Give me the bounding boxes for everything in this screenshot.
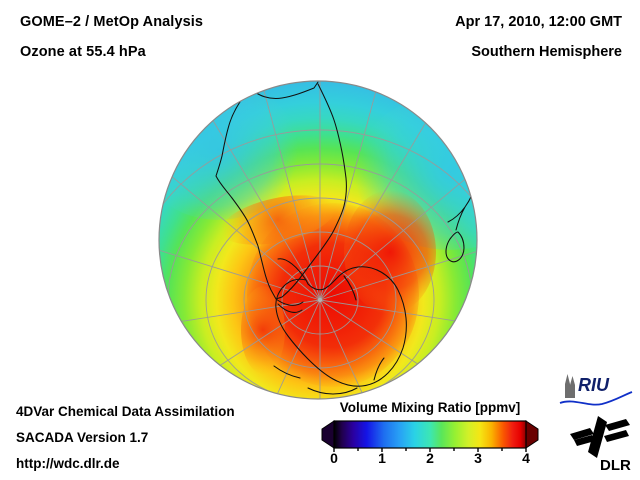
colorbar-extend-max — [526, 421, 538, 448]
colorbar-tick-2: 2 — [426, 450, 434, 466]
orthographic-projection — [158, 80, 478, 400]
footer-line-method: 4DVar Chemical Data Assimilation — [16, 404, 235, 419]
orange-filament-south-pacific — [241, 286, 285, 374]
dlr-logo-text: DLR — [600, 457, 631, 474]
colorbar-bar — [334, 421, 526, 448]
colorbar: Volume Mixing Ratio [ppmv] — [312, 400, 548, 474]
colorbar-tick-4: 4 — [522, 450, 530, 466]
region-label: Southern Hemisphere — [471, 44, 622, 60]
colorbar-title: Volume Mixing Ratio [ppmv] — [312, 400, 548, 415]
ozone-analysis-figure: GOME–2 / MetOp Analysis Ozone at 55.4 hP… — [0, 0, 640, 480]
colorbar-gradient — [312, 418, 548, 452]
colorbar-tick-1: 1 — [378, 450, 386, 466]
date-label: Apr 17, 2010, 12:00 GMT — [455, 14, 622, 30]
colorbar-tick-3: 3 — [474, 450, 482, 466]
ozone-field-layer — [158, 80, 478, 400]
cathedral-icon — [565, 374, 575, 398]
riu-logo: RIU — [556, 372, 636, 410]
footer-line-url[interactable]: http://wdc.dlr.de — [16, 456, 120, 471]
page-title: GOME–2 / MetOp Analysis — [20, 14, 203, 30]
south-pole-marker — [318, 298, 322, 302]
page-subtitle: Ozone at 55.4 hPa — [20, 44, 146, 60]
footer-line-version: SACADA Version 1.7 — [16, 430, 148, 445]
colorbar-extend-min — [322, 421, 334, 448]
colorbar-tick-0: 0 — [330, 450, 338, 466]
dlr-mark-icon — [570, 416, 630, 458]
riu-logo-text: RIU — [578, 375, 610, 395]
dlr-logo: DLR — [564, 414, 636, 474]
globe-map — [158, 80, 478, 400]
